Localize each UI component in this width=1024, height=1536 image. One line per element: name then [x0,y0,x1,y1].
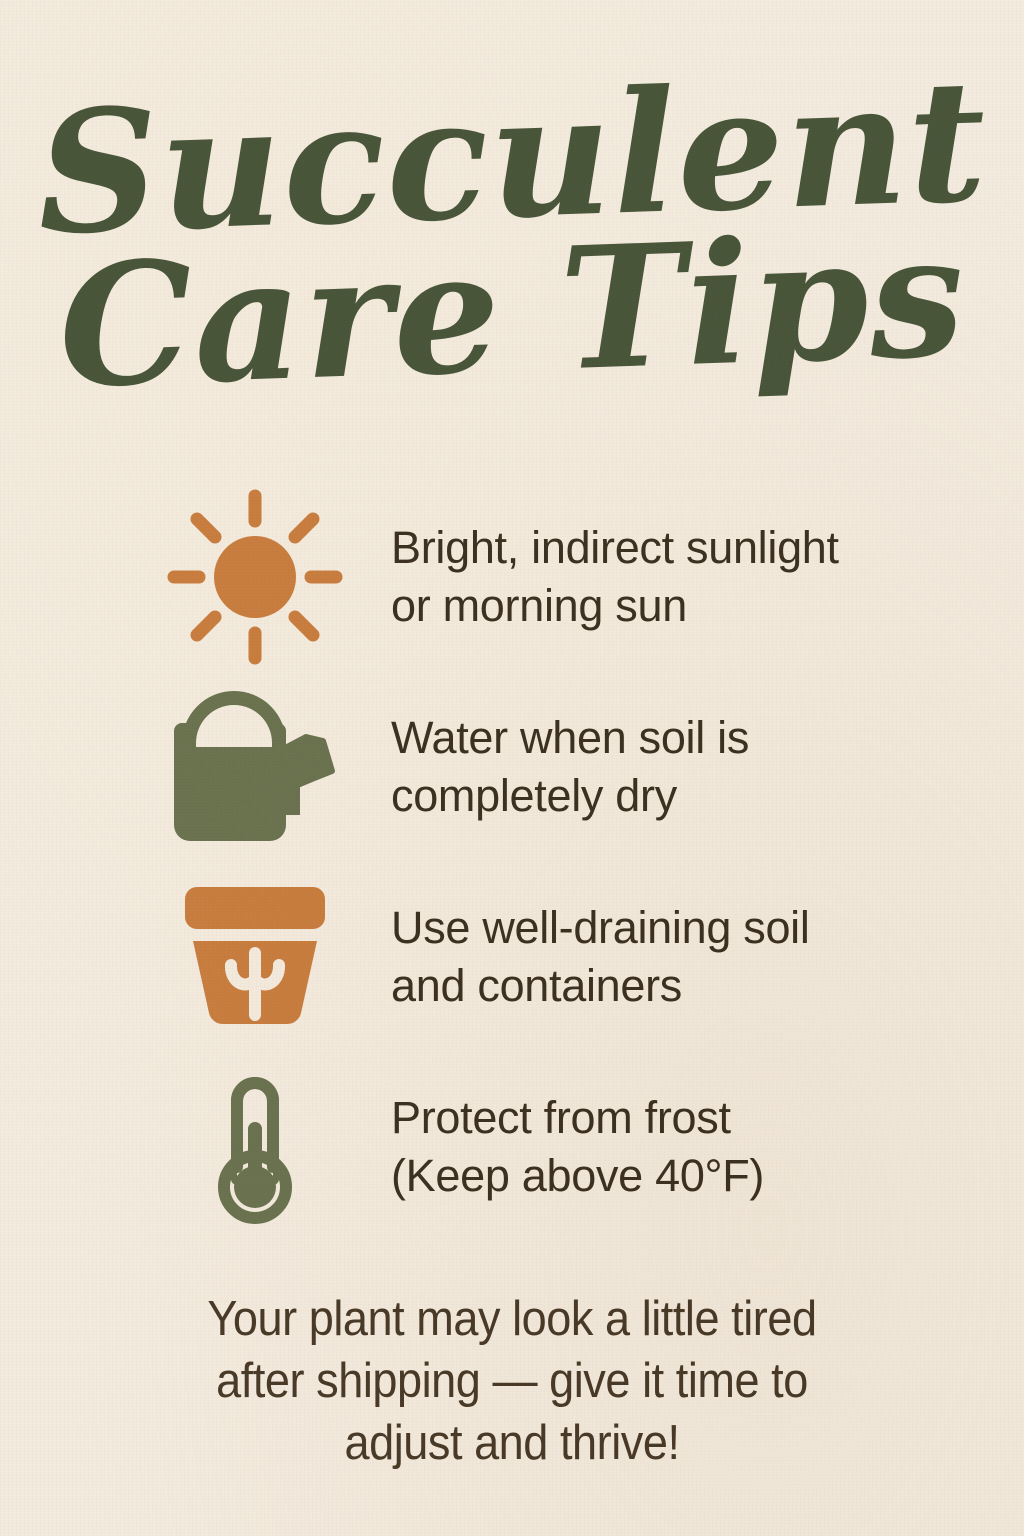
tip-row-soil: Use well-draining soil and containers [0,862,1024,1052]
tip-text-sunlight: Bright, indirect sunlight or morning sun [391,519,971,636]
tip-text-line-1: Water when soil is [391,709,971,768]
tip-text-line-2: completely dry [391,767,971,826]
footer-line-1: Your plant may look a little tired [41,1288,983,1350]
tip-text-line-1: Protect from frost [391,1089,971,1148]
tip-row-frost: Protect from frost (Keep above 40°F) [0,1052,1024,1242]
footer-line-2: after shipping — give it time to [41,1350,983,1412]
footer-note: Your plant may look a little tired after… [41,1288,983,1475]
title-line-2: Care Tips [0,214,1024,409]
tips-list: Bright, indirect sunlight or morning sun [0,482,1024,1242]
tip-text-soil: Use well-draining soil and containers [391,899,971,1016]
sun-icon [150,490,360,665]
thermometer-icon [150,1060,360,1235]
tip-text-frost: Protect from frost (Keep above 40°F) [391,1089,971,1206]
tip-text-line-2: or morning sun [391,577,971,636]
watering-can-icon [150,680,360,855]
tip-text-line-2: (Keep above 40°F) [391,1147,971,1206]
tip-text-watering: Water when soil is completely dry [391,709,971,826]
tip-text-line-1: Bright, indirect sunlight [391,519,971,578]
tip-row-sunlight: Bright, indirect sunlight or morning sun [0,482,1024,672]
poster-canvas: Succulent Care Tips [0,0,1024,1536]
tip-text-line-2: and containers [391,957,971,1016]
page-title: Succulent Care Tips [0,78,1024,391]
plant-pot-icon [150,870,360,1045]
footer-line-3: adjust and thrive! [41,1412,983,1474]
tip-text-line-1: Use well-draining soil [391,899,971,958]
tip-row-watering: Water when soil is completely dry [0,672,1024,862]
